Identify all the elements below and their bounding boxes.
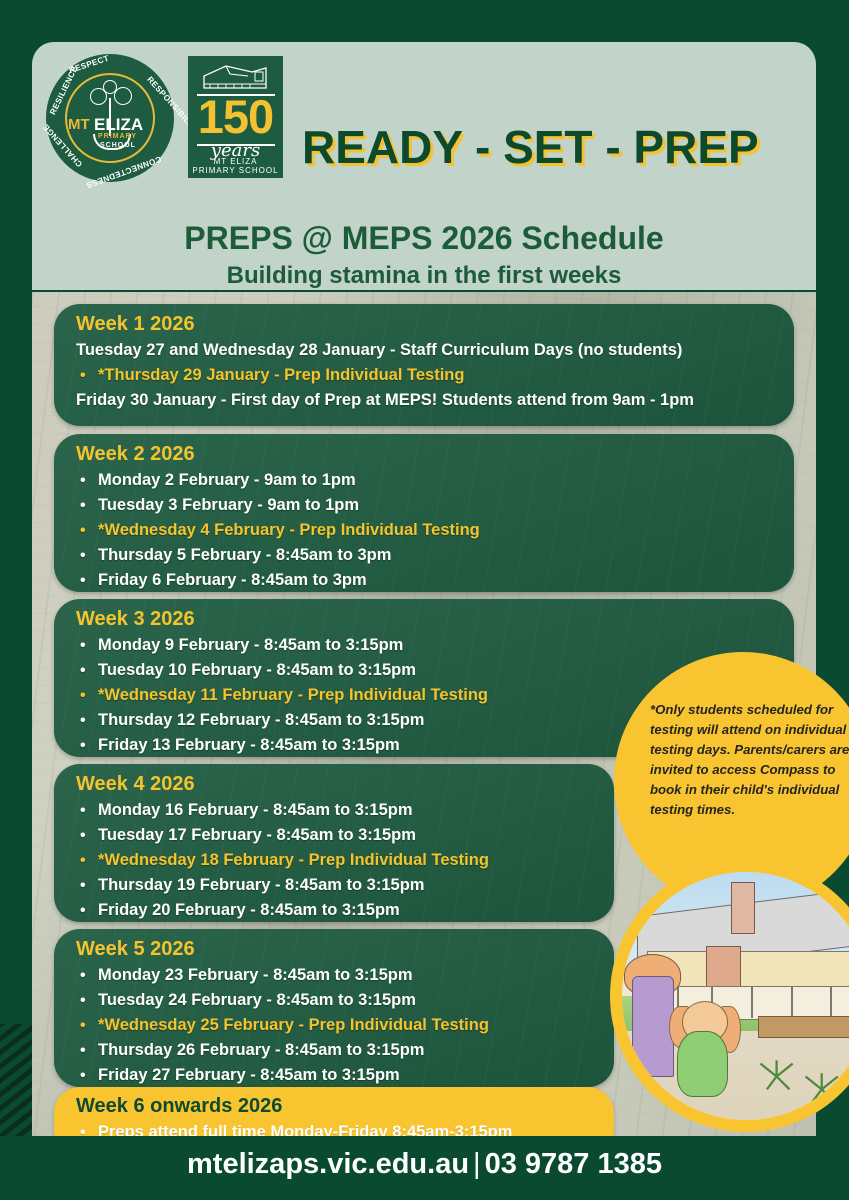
- week-card: Week 4 2026Monday 16 February - 8:45am t…: [54, 764, 614, 922]
- illustration-plants: [756, 1041, 849, 1105]
- week-schedule-line: Friday 6 February - 8:45am to 3pm: [54, 568, 794, 592]
- footer-separator: |: [469, 1148, 485, 1180]
- badge-rule-bottom: [197, 144, 275, 146]
- illustration-deck: [758, 1016, 849, 1038]
- week-schedule-line: Thursday 5 February - 8:45am to 3pm: [54, 543, 794, 568]
- crest-text-primary: PRIMARY: [98, 133, 137, 140]
- week-schedule-line: Friday 30 January - First day of Prep at…: [54, 388, 794, 413]
- crest-value-resilience: RESILIENCE: [48, 65, 79, 117]
- school-crest-logo: RESPECT RESPONSIBILITY CONNECTEDNESS CHA…: [46, 54, 174, 182]
- footer-bar: mtelizaps.vic.edu.au|03 9787 1385: [0, 1136, 849, 1200]
- badge-school-line2: PRIMARY SCHOOL: [188, 166, 283, 175]
- illustration-chimney: [731, 882, 755, 934]
- 150-years-logo: 150 years MT ELIZA PRIMARY SCHOOL: [188, 56, 283, 178]
- week-testing-day-line: *Wednesday 4 February - Prep Individual …: [54, 518, 794, 543]
- student-artwork-illustration: [622, 872, 849, 1120]
- week-schedule-line: Monday 2 February - 9am to 1pm: [54, 468, 794, 493]
- header-panel: RESPECT RESPONSIBILITY CONNECTEDNESS CHA…: [32, 42, 816, 290]
- week-schedule-line: Monday 16 February - 8:45am to 3:15pm: [54, 798, 614, 823]
- footer-contact: mtelizaps.vic.edu.au|03 9787 1385: [0, 1148, 849, 1181]
- badge-number: 150: [188, 92, 283, 142]
- week-card-title: Week 4 2026: [54, 764, 614, 798]
- week-schedule-line: Tuesday 24 February - 8:45am to 3:15pm: [54, 988, 614, 1013]
- week-6-title: Week 6 onwards 2026: [54, 1087, 614, 1120]
- week-card: Week 2 2026Monday 2 February - 9am to 1p…: [54, 434, 794, 592]
- page-subtitle-secondary: Building stamina in the first weeks: [32, 262, 816, 290]
- illustration-post: [751, 986, 753, 1018]
- week-schedule-line: Tuesday 3 February - 9am to 1pm: [54, 493, 794, 518]
- page-subtitle: PREPS @ MEPS 2026 Schedule: [32, 220, 816, 257]
- week-schedule-line: Tuesday 17 February - 8:45am to 3:15pm: [54, 823, 614, 848]
- crest-value-connectedness: CONNECTEDNESS: [85, 154, 163, 190]
- week-testing-day-line: *Wednesday 25 February - Prep Individual…: [54, 1013, 614, 1038]
- week-schedule-line: Thursday 19 February - 8:45am to 3:15pm: [54, 873, 614, 898]
- footer-website[interactable]: mtelizaps.vic.edu.au: [187, 1148, 469, 1180]
- week-card-title: Week 3 2026: [54, 599, 794, 633]
- week-schedule-line: Friday 20 February - 8:45am to 3:15pm: [54, 898, 614, 922]
- week-testing-day-line: *Wednesday 18 February - Prep Individual…: [54, 848, 614, 873]
- week-schedule-line: Monday 9 February - 8:45am to 3:15pm: [54, 633, 794, 658]
- page-title: READY - SET - PREP: [302, 120, 802, 174]
- crest-text-eliza: ELIZA: [94, 115, 143, 135]
- poster-root: RESPECT RESPONSIBILITY CONNECTEDNESS CHA…: [0, 0, 849, 1200]
- week-schedule-line: Thursday 26 February - 8:45am to 3:15pm: [54, 1038, 614, 1063]
- week-6-line: Preps attend full time Monday-Friday 8:4…: [54, 1120, 614, 1136]
- illustration-adult-figure: [632, 976, 674, 1077]
- week-schedule-line: Monday 23 February - 8:45am to 3:15pm: [54, 963, 614, 988]
- week-6-card: Week 6 onwards 2026 Preps attend full ti…: [54, 1087, 614, 1136]
- week-testing-day-line: *Thursday 29 January - Prep Individual T…: [54, 363, 794, 388]
- crest-tree-icon: [90, 80, 132, 120]
- week-card: Week 5 2026Monday 23 February - 8:45am t…: [54, 929, 614, 1087]
- week-card: Week 1 2026Tuesday 27 and Wednesday 28 J…: [54, 304, 794, 426]
- school-building-icon: [200, 62, 272, 92]
- crest-text-school: SCHOOL: [100, 142, 136, 149]
- week-card-title: Week 5 2026: [54, 929, 614, 963]
- testing-note-text: *Only students scheduled for testing wil…: [650, 700, 849, 820]
- crest-text-mt: MT: [68, 116, 90, 133]
- week-card-title: Week 2 2026: [54, 434, 794, 468]
- badge-school-line1: MT ELIZA: [188, 157, 283, 166]
- illustration-child-backpack: [677, 1031, 729, 1097]
- illustration-post: [791, 986, 793, 1018]
- week-card-title: Week 1 2026: [54, 304, 794, 338]
- footer-phone[interactable]: 03 9787 1385: [485, 1148, 662, 1180]
- illustration-post: [830, 986, 832, 1018]
- week-schedule-line: Tuesday 27 and Wednesday 28 January - St…: [54, 338, 794, 363]
- week-schedule-line: Friday 27 February - 8:45am to 3:15pm: [54, 1063, 614, 1087]
